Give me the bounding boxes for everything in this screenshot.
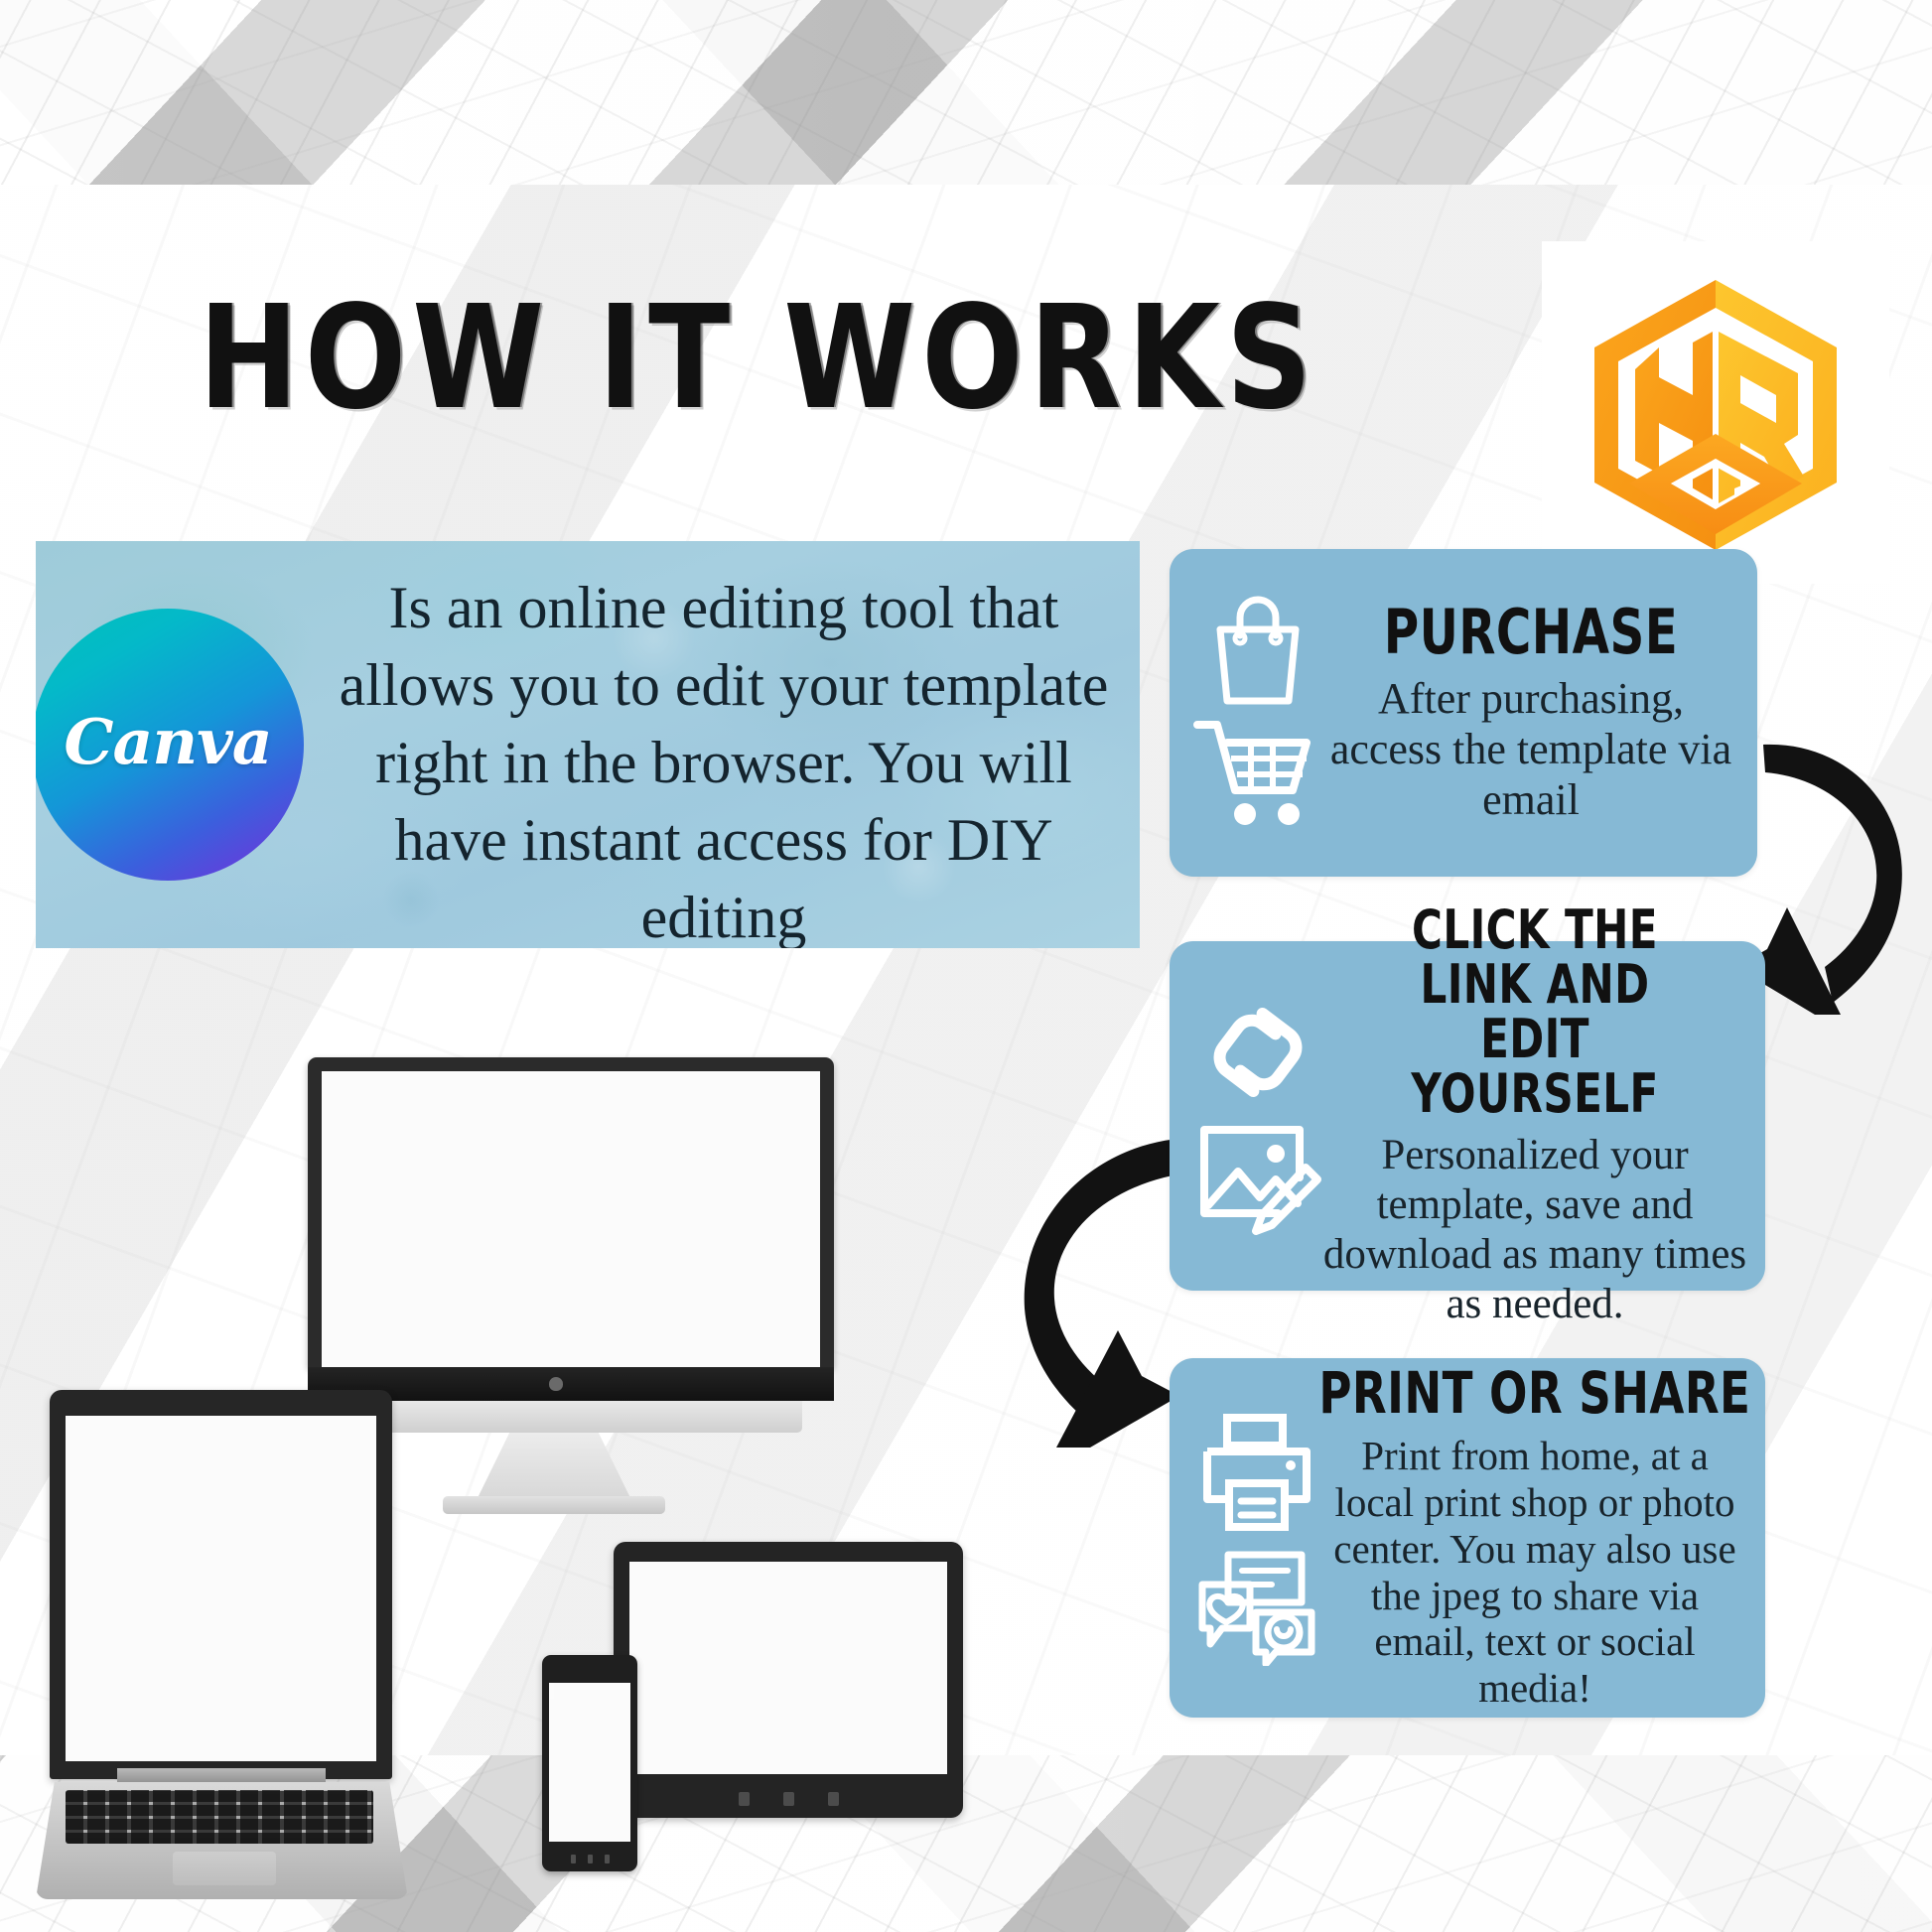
- monitor-base: [336, 1401, 802, 1433]
- laptop-screen: [66, 1416, 376, 1761]
- canva-description: Is an online editing tool that allows yo…: [322, 569, 1126, 948]
- monitor-brand-mark-icon: [549, 1377, 563, 1391]
- hrg-cube-logo-icon: [1586, 274, 1846, 552]
- phone-screen: [549, 1683, 630, 1842]
- phone-glare: [549, 1683, 591, 1699]
- canva-logo-circle: Canva: [36, 609, 304, 881]
- monitor-stand-neck: [475, 1433, 633, 1504]
- image-edit-icon: [1194, 1116, 1321, 1239]
- hrg-logo-container: [1542, 241, 1889, 584]
- tablet-glare: [629, 1562, 759, 1582]
- page-title: HOW IT WORKS: [199, 286, 1318, 429]
- link-chain-icon: [1198, 993, 1317, 1112]
- device-mockup: [38, 1047, 1040, 1588]
- tablet: [614, 1542, 963, 1818]
- laptop-lid: [50, 1390, 392, 1779]
- monitor-glare: [322, 1071, 530, 1097]
- tablet-screen: [629, 1562, 947, 1774]
- step-2-icons: [1183, 941, 1332, 1291]
- step-2-body: CLICK THE LINK AND EDIT YOURSELF Persona…: [1318, 941, 1751, 1291]
- step-2-heading: CLICK THE LINK AND EDIT YOURSELF: [1366, 902, 1704, 1121]
- step-1-description: After purchasing, access the template vi…: [1318, 673, 1743, 825]
- shopping-bag-icon: [1202, 592, 1313, 709]
- step-3-body: PRINT OR SHARE Print from home, at a loc…: [1318, 1358, 1751, 1718]
- laptop-keyboard: [66, 1790, 373, 1844]
- canva-info-box: Canva Is an online editing tool that all…: [36, 541, 1140, 948]
- canva-wordmark: Canva: [64, 705, 271, 778]
- smartphone: [542, 1655, 637, 1871]
- laptop-glare: [66, 1416, 214, 1438]
- step-3-icons: [1183, 1358, 1332, 1718]
- shopping-cart-icon: [1193, 713, 1322, 834]
- step-1-body: PURCHASE After purchasing, access the te…: [1318, 549, 1743, 877]
- infographic-page: HOW IT WORKS: [0, 0, 1932, 1932]
- step-3-heading: PRINT OR SHARE: [1319, 1364, 1751, 1423]
- step-card-edit[interactable]: CLICK THE LINK AND EDIT YOURSELF Persona…: [1170, 941, 1765, 1291]
- printer-icon: [1197, 1410, 1318, 1535]
- step-1-icons: [1183, 549, 1332, 877]
- step-card-purchase[interactable]: PURCHASE After purchasing, access the te…: [1170, 549, 1757, 877]
- laptop-trackpad: [173, 1852, 276, 1885]
- share-chat-icon: [1194, 1539, 1321, 1666]
- phone-buttons: [542, 1855, 637, 1863]
- monitor-stand-foot: [443, 1496, 665, 1514]
- step-1-heading: PURCHASE: [1384, 601, 1678, 663]
- laptop-hinge: [117, 1768, 326, 1784]
- step-2-description: Personalized your template, save and dow…: [1318, 1131, 1751, 1329]
- step-card-print-share[interactable]: PRINT OR SHARE Print from home, at a loc…: [1170, 1358, 1765, 1718]
- step-3-description: Print from home, at a local print shop o…: [1318, 1433, 1751, 1711]
- tablet-buttons: [614, 1792, 963, 1806]
- desktop-monitor: [308, 1057, 834, 1367]
- monitor-screen: [322, 1071, 820, 1367]
